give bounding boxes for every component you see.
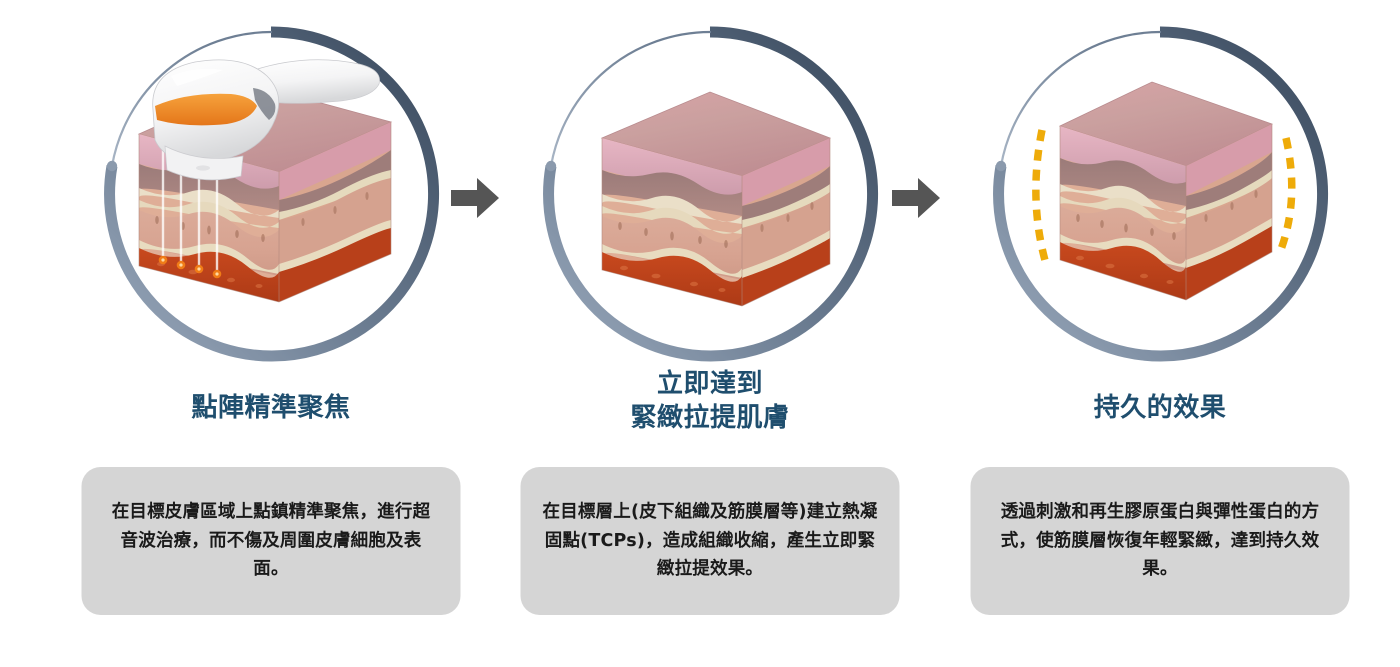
step-2-title-line-1: 立即達到: [490, 368, 930, 402]
step-3-tightening-arc-left: [1036, 130, 1046, 264]
step-1-caption-box: 在目標皮膚區域上點鎮精準聚焦，進行超音波治療，而不傷及周圍皮膚細胞及表面。: [82, 467, 461, 615]
step-2-caption-text: 在目標層上(皮下組織及筋膜層等)建立熱凝固點(TCPs)，造成組織收縮，產生立即…: [543, 498, 878, 583]
step-3-tightening-arc-right: [1280, 138, 1292, 252]
step-2-illustration: [530, 14, 890, 366]
step-3-caption-text: 透過刺激和再生膠原蛋白與彈性蛋白的方式，使筋膜層恢復年輕緊緻，達到持久效果。: [993, 498, 1328, 583]
infographic-root: 點陣精準聚焦 在目標皮膚區域上點鎮精準聚焦，進行超音波治療，而不傷及周圍皮膚細胞…: [0, 0, 1400, 667]
process-step-1: 點陣精準聚焦 在目標皮膚區域上點鎮精準聚焦，進行超音波治療，而不傷及周圍皮膚細胞…: [51, 0, 491, 667]
step-3-skin-cube: [1052, 82, 1280, 312]
step-3-caption-box: 透過刺激和再生膠原蛋白與彈性蛋白的方式，使筋膜層恢復年輕緊緻，達到持久效果。: [971, 467, 1350, 615]
step-2-title-line-2: 緊緻拉提肌膚: [490, 402, 930, 436]
step-3-title-line-1: 持久的效果: [940, 392, 1380, 426]
arrow-right-icon: [892, 178, 940, 218]
step-2-caption-box: 在目標層上(皮下組織及筋膜層等)建立熱凝固點(TCPs)，造成組織收縮，產生立即…: [521, 467, 900, 615]
process-step-2: 立即達到 緊緻拉提肌膚 在目標層上(皮下組織及筋膜層等)建立熱凝固點(TCPs)…: [490, 0, 930, 667]
step-1-caption-text: 在目標皮膚區域上點鎮精準聚焦，進行超音波治療，而不傷及周圍皮膚細胞及表面。: [104, 498, 439, 583]
step-1-title-line-1: 點陣精準聚焦: [51, 392, 491, 426]
step-2-title: 立即達到 緊緻拉提肌膚: [490, 368, 930, 436]
connector-arrow-2: [888, 172, 944, 224]
step-3-title: 持久的效果: [940, 392, 1380, 426]
step-1-title: 點陣精準聚焦: [51, 392, 491, 426]
step-3-illustration: [980, 14, 1340, 366]
process-step-3: 持久的效果 透過刺激和再生膠原蛋白與彈性蛋白的方式，使筋膜層恢復年輕緊緻，達到持…: [940, 0, 1380, 667]
step-1-illustration: [91, 14, 451, 366]
step-2-skin-cube: [594, 92, 838, 320]
